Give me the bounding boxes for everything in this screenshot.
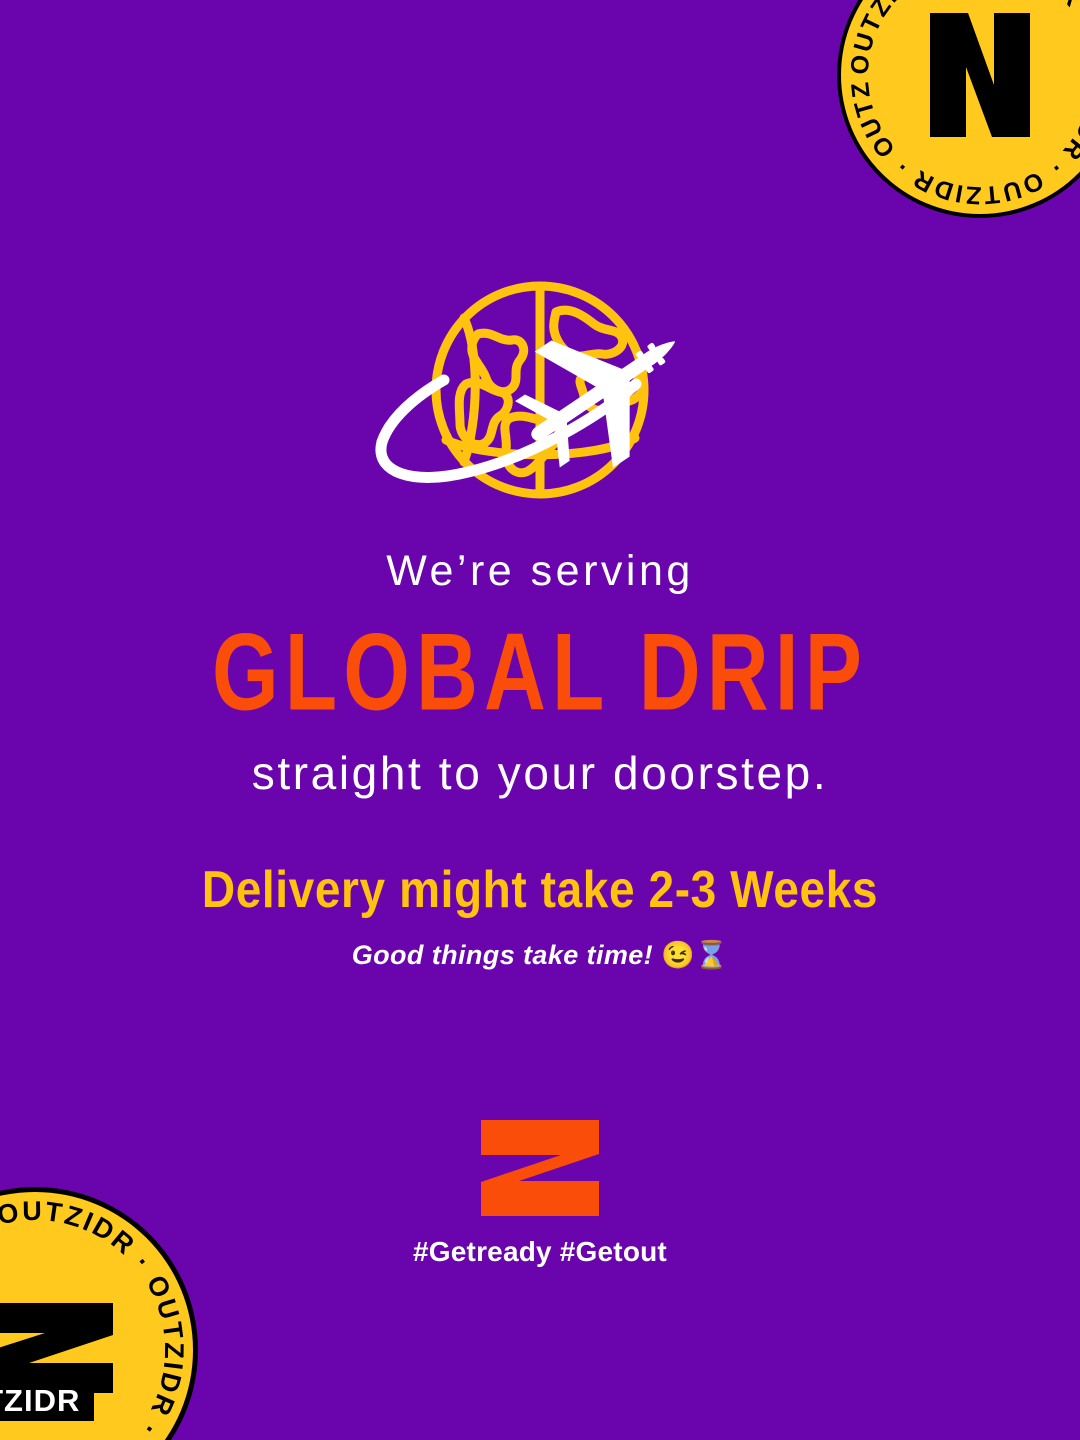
outzidr-sticker-top-right: OUTZIDR · OUTZIDR · OUTZIDR · OUTZIDR · … <box>835 0 1080 220</box>
subheadline-text: straight to your doorstep. <box>0 748 1080 799</box>
tagline-text: Good things take time! <box>352 940 653 970</box>
wink-hourglass-emoji: 😉⌛ <box>661 940 728 970</box>
delivery-notice: Delivery might take 2-3 Weeks <box>0 861 1080 918</box>
tagline: Good things take time! 😉⌛ <box>0 941 1080 971</box>
copy-block: We’re serving GLOBAL DRIP straight to yo… <box>0 548 1080 970</box>
globe-with-airplane-icon <box>360 272 720 512</box>
outzidr-sticker-bottom-left: OUTZIDR · OUTZIDR · OUTZIDR · OUTZIDR · … <box>0 1185 200 1440</box>
page-title: GLOBAL DRIP <box>0 608 1080 737</box>
badge-wordmark-text: OUTZIDR <box>0 1383 80 1418</box>
badge-wordmark: OUTZIDR <box>0 1381 94 1421</box>
promo-poster: OUTZIDR · OUTZIDR · OUTZIDR · OUTZIDR · … <box>0 0 1080 1440</box>
airplane-icon <box>493 283 714 495</box>
eyebrow-text: We’re serving <box>0 548 1080 594</box>
z-logo-mark <box>475 1118 605 1218</box>
